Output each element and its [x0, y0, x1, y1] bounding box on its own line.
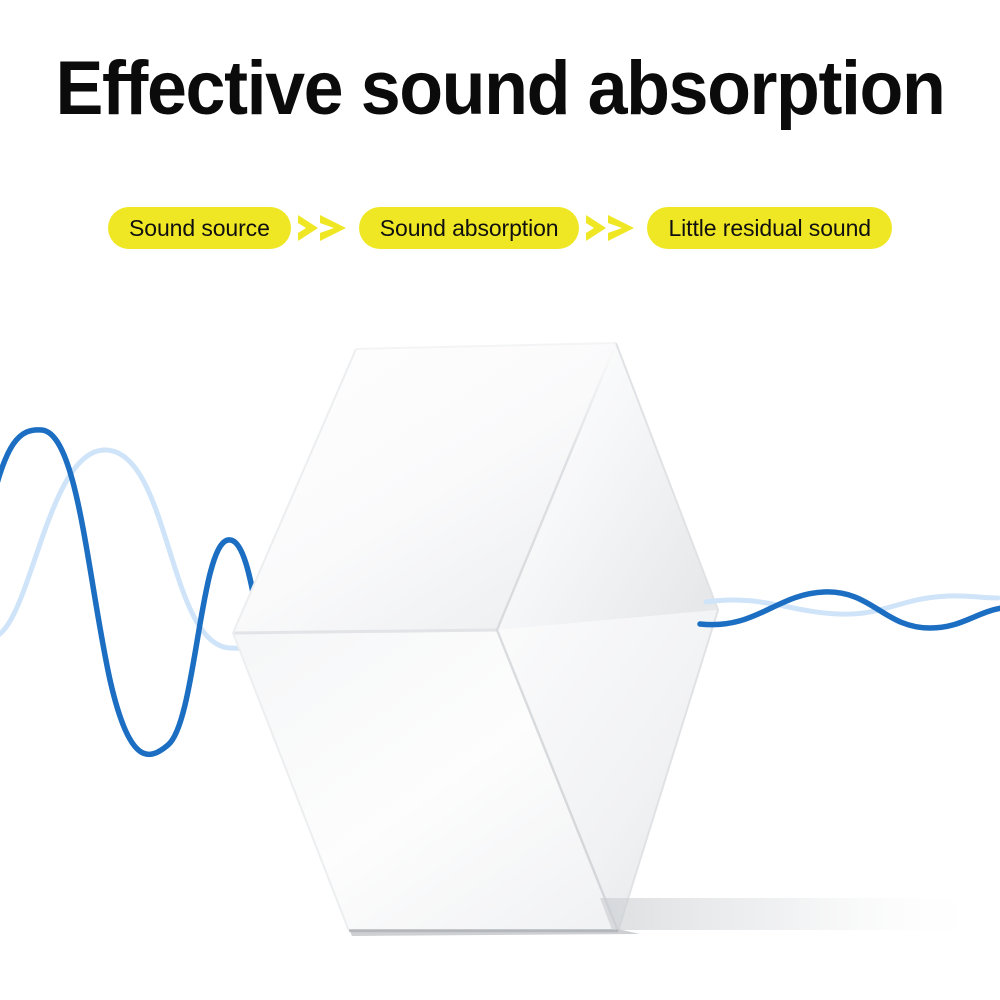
panel-contact-shadow [349, 929, 640, 936]
product-feature-graphic: Effective sound absorption Sound source … [0, 0, 1000, 1000]
acoustic-panel-illustration [0, 0, 1000, 1000]
cast-shadow [600, 898, 990, 930]
hexagon-panel [233, 343, 718, 936]
